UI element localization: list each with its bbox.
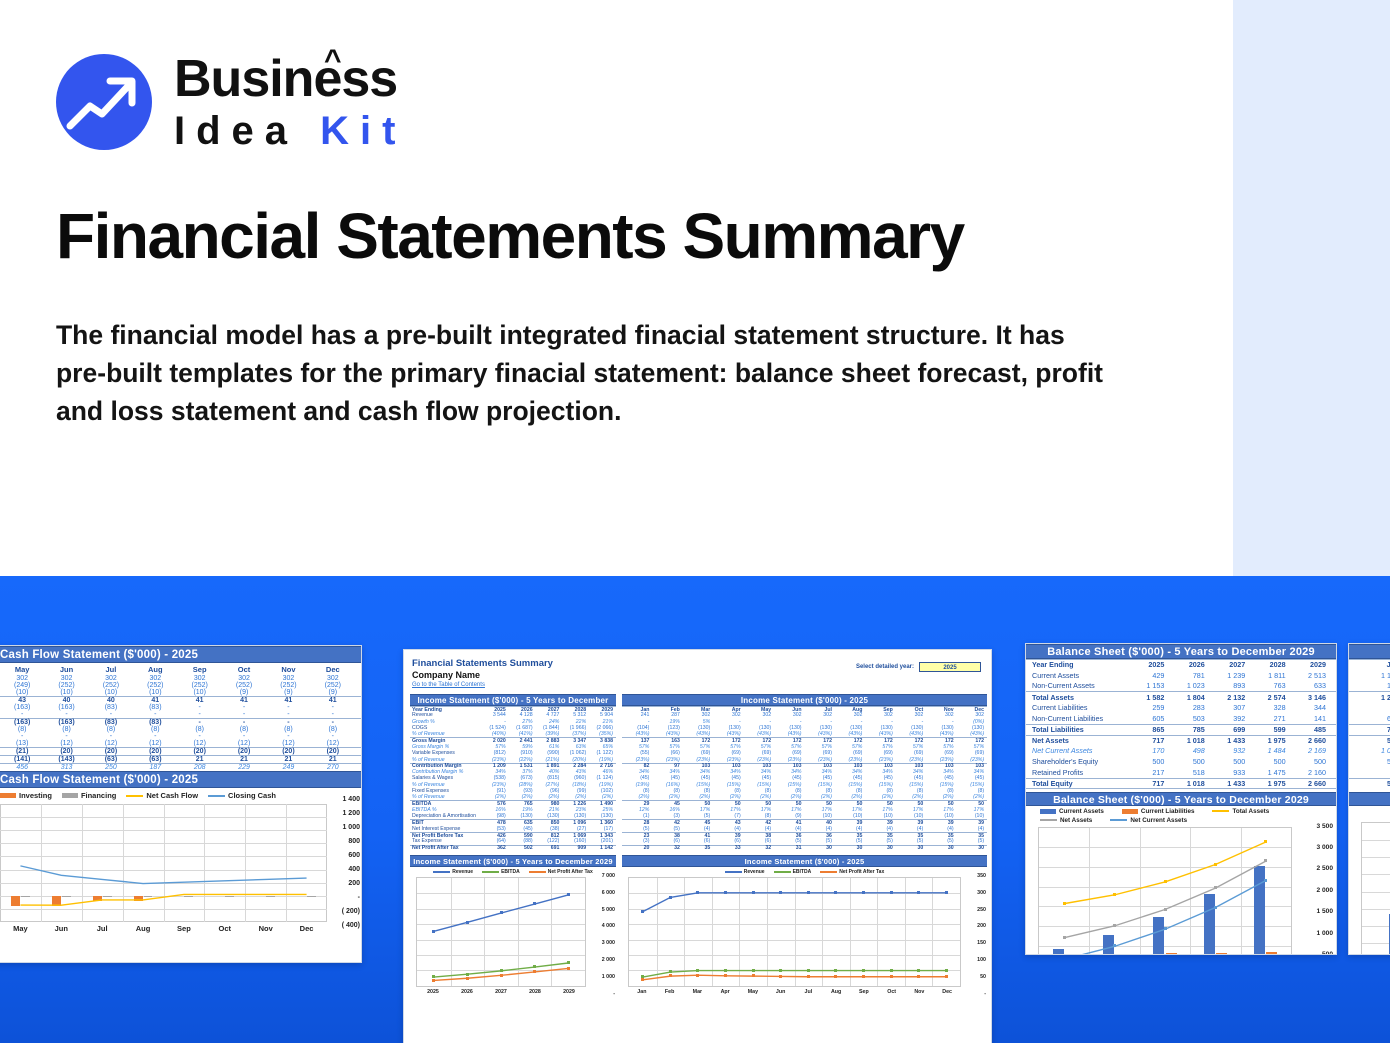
y-tick: 3 000 [1316,844,1333,851]
table-row: % of Revenue(23%)(22%)(21%)(20%)(19%) [410,756,616,762]
table-cell: 2027 [1209,660,1249,669]
table-cell: (252) [89,682,133,689]
table-cell: (5) [896,838,926,844]
x-tick: Aug [822,989,850,995]
table-row: (163)(163)(83)(83)---- [0,718,361,726]
table-cell: (2%) [589,794,616,800]
balance-sheet-chart-legend: Current AssetsCurrent LiabilitiesTotal A… [1026,806,1336,827]
row-label: Gross Margin % [410,744,482,750]
table-cell: 17% [957,807,987,813]
table-cell: (163) [0,719,44,726]
table-cell: - [835,719,865,725]
row-label: Tax Expense [410,838,482,844]
table-cell: 46% [589,769,616,775]
table-cell: (5) [835,838,865,844]
table-cell: 40 [44,697,88,704]
table-cell: 1 239 [1209,671,1249,680]
table-cell: (12) [311,740,355,747]
x-tick: Dec [933,989,961,995]
table-cell: 21 [266,756,310,763]
table-row: EBITDA %16%19%21%23%25% [410,807,616,813]
table-cell: 229 [222,764,266,771]
table-cell: 362 [482,845,509,851]
table-cell: 217 [1128,768,1168,777]
table-cell: 34% [744,769,774,775]
table-cell: (8) [926,788,956,794]
table-cell: 30 [865,845,895,851]
table-cell: (5) [622,826,652,832]
table-row: Net Current Assets1704989321 4842 169 [1026,745,1336,756]
table-row: Tax Expense(64)(88)(122)(160)(201) [410,838,616,844]
legend-swatch [1122,809,1138,814]
row-label: Fixed Expenses [410,788,482,794]
legend-swatch [126,795,143,797]
table-cell: (45) [957,775,987,781]
table-cell: 270 [311,764,355,771]
chart-bar [1115,954,1126,955]
table-cell: 57% [926,744,956,750]
table-cell: (45) [835,775,865,781]
table-cell: (21%) [536,757,563,763]
table-cell: (23%) [683,757,713,763]
table-cell: 933 [1209,768,1249,777]
y-tick: 2 000 [1316,887,1333,894]
table-cell: (812) [482,750,509,756]
table-cell: (163) [44,719,88,726]
table-cell: (815) [536,775,563,781]
grid-line [1362,926,1390,927]
data-point [696,974,699,977]
table-cell: (22%) [509,757,536,763]
table-cell: 208 [178,764,222,771]
table-cell: (15%) [774,782,804,788]
table-cell: 500 [1355,757,1390,766]
table-cell: - [865,719,895,725]
table-cell: (249) [0,682,44,689]
row-label: Retained Profits [1032,768,1128,777]
row-label: EBITDA % [410,807,482,813]
table-row: JanFebMarAprMayJunJulAugSepOctNovDec [622,706,987,712]
table-cell: (23%) [926,757,956,763]
table-cell: 57% [683,744,713,750]
table-cell: (15%) [805,782,835,788]
table-row: 137163172172172172172172172172172172 [622,737,987,743]
table-cell: 307 [1209,703,1249,712]
table-cell: (10) [896,813,926,819]
table-cell: 43 [0,697,44,704]
table-cell: 17% [865,807,895,813]
table-row: EBITDA5767659801 2261 490 [410,800,616,806]
table-cell: 1 018 [1168,736,1208,745]
table-cell: 17% [713,807,743,813]
x-tick: Oct [204,924,245,933]
table-row: (10)(10)(10)(10)(10)(9)(9)(9) [0,689,361,696]
cash-flow-table-title: Cash Flow Statement ($'000) - 2025 [0,646,361,663]
year-picker-input[interactable]: 2025 [919,662,981,672]
table-cell: (15%) [744,782,774,788]
legend-label: Total Assets [1232,808,1269,815]
table-cell: (8) [713,788,743,794]
table-cell: (43%) [683,731,713,737]
table-row: Fixed Expenses(91)(93)(96)(99)(102) [410,788,616,794]
table-cell: (12) [89,740,133,747]
table-cell: 500 [1249,757,1289,766]
y-tick: 150 [977,940,986,946]
row-label: % of Revenue [410,782,482,788]
table-cell: (23%) [835,757,865,763]
x-tick: 2025 [416,989,450,995]
table-cell: 2 513 [1290,671,1330,680]
table-of-contents-link[interactable]: Go to the Table of Contents [404,680,991,688]
financial-summary-screenshot[interactable]: Financial Statements Summary Company Nam… [403,649,992,1043]
table-cell: 34% [865,769,895,775]
table-cell: (20) [222,748,266,755]
table-cell: 41 [178,697,222,704]
table-cell: - [89,711,133,718]
table-cell: - [178,704,222,711]
table-cell: - [89,733,133,740]
table-row: (43%)(43%)(43%)(43%)(43%)(43%)(43%)(43%)… [622,731,987,737]
table-cell: - [133,733,177,740]
table-cell: 30 [926,845,956,851]
column-header: Jan [1355,660,1390,669]
row-label: COGS [410,725,482,731]
y-tick: 600 [348,852,360,859]
column-header: Oct [222,665,266,674]
table-cell: 19% [509,807,536,813]
table-cell: (43%) [744,731,774,737]
income-statement-tables: Income Statement ($'000) - 5 Years to De… [404,688,991,851]
table-row: 233841393836363535353535 [622,832,987,838]
table-cell: (10) [133,689,177,696]
table-cell: 302 [44,675,88,682]
table-cell: (45) [774,775,804,781]
table-row: 4340404141414141 [0,696,361,704]
table-row: 124 [1349,681,1390,692]
row-label: % of Revenue [410,757,482,763]
table-cell: 633 [1290,681,1330,690]
legend-label: EBITDA [793,869,812,875]
table-cell: (122) [536,838,563,844]
table-cell: (23%) [713,757,743,763]
table-cell: (83) [89,719,133,726]
data-point [752,974,755,977]
cash-flow-chart-legend: InvestingFinancingNet Cash FlowClosing C… [0,788,361,802]
row-label: Shareholder's Equity [1032,757,1128,766]
data-point [834,975,837,978]
table-row: % of Revenue(2%)(2%)(2%)(2%)(2%) [410,794,616,800]
x-tick: 2029 [552,989,586,995]
table-cell: 2029 [1290,660,1330,669]
table-cell: (69) [805,750,835,756]
table-cell: - [44,733,88,740]
table-cell: (3) [652,813,682,819]
table-cell: (39%) [536,731,563,737]
table-cell: (23%) [482,757,509,763]
column-header: Aug [133,665,177,674]
data-point [669,974,672,977]
legend-item: Net Profit After Tax [529,869,593,875]
table-cell: 34% [622,769,652,775]
monthly-balance-screenshot[interactable]: Jan1 1741241 297936927865121 08150012512… [1348,643,1390,955]
table-row: (45)(45)(45)(45)(45)(45)(45)(45)(45)(45)… [622,775,987,781]
x-tick: Sep [850,989,878,995]
table-cell: (15%) [865,782,895,788]
table-cell: - [222,733,266,740]
table-row: 93 [1349,702,1390,713]
balance-sheet-chart-title: Balance Sheet ($'000) - 5 Years to Decem… [1026,792,1336,806]
table-row: Non-Current Assets1 1531 023893763633 [1026,681,1336,692]
table-cell: (15%) [957,782,987,788]
table-cell: 30 [835,845,865,851]
trending-up-arrow-icon [56,54,152,150]
table-cell: (201) [589,838,616,844]
table-row: 12%16%17%17%17%17%17%17%17%17%17%17% [622,807,987,813]
table-cell: (252) [44,682,88,689]
table-cell: - [178,719,222,726]
page-title: Financial Statements Summary [56,199,964,273]
table-cell: 35 [683,845,713,851]
table-cell: - [805,719,835,725]
table-cell: (20) [178,748,222,755]
table-cell: (5) [774,838,804,844]
table-cell: 1 433 [1209,779,1249,788]
table-cell: 63% [562,744,589,750]
table-cell: (8) [835,788,865,794]
y-tick: - [358,894,360,901]
legend-label: Net Profit After Tax [548,869,593,875]
table-cell: (8) [266,726,310,733]
cash-flow-chart-plot: 1 4001 2001 000800600400200-( 200)( 400) [0,804,327,922]
table-row: 294550505050505050505050 [622,800,987,806]
row-label: % of Revenue [410,731,482,737]
table-cell: (43%) [774,731,804,737]
legend-swatch [774,871,791,873]
table-cell: 699 [1209,725,1249,734]
table-row: 1 081 [1349,745,1390,756]
table-cell: 21 [222,756,266,763]
y-tick: 800 [348,838,360,845]
screenshot-showcase-band: Cash Flow Statement ($'000) - 2025 MayJu… [0,576,1390,1043]
table-row: Contribution Margin %34%37%40%43%46% [410,769,616,775]
table-row: (13)(12)(12)(12)(12)(12)(12)(12) [0,740,361,747]
table-cell: (2%) [713,794,743,800]
table-cell: - [178,711,222,718]
table-cell: - [622,719,652,725]
y-tick: 1 200 [342,810,360,817]
x-tick: May [0,924,41,933]
table-cell: (130) [589,813,616,819]
data-point [1113,944,1116,947]
table-cell: (6) [713,838,743,844]
table-cell: 1 174 [1355,671,1390,680]
legend-item: Current Liabilities [1122,808,1195,815]
table-row: COGS(1 524)(1 687)(1 844)(1 966)(2 066) [410,725,616,731]
table-cell: 30 [896,845,926,851]
table-cell: 503 [1168,714,1208,723]
y-tick: 500 [1322,951,1333,955]
table-cell: (2%) [744,794,774,800]
year-picker[interactable]: Select detailed year: 2025 [856,662,981,672]
table-cell: (69) [926,750,956,756]
data-point [1164,927,1167,930]
data-point [862,975,865,978]
table-cell: (23%) [865,757,895,763]
y-tick: ( 200) [342,908,360,915]
row-label: Salaries & Wages [410,775,482,781]
table-cell: 1 018 [1168,779,1208,788]
x-tick: 2028 [518,989,552,995]
table-cell: - [311,733,355,740]
table-cell: (43%) [926,731,956,737]
table-cell: 302 [835,712,865,718]
table-cell: 34% [957,769,987,775]
table-cell: 392 [1209,714,1249,723]
table-cell: (4) [926,826,956,832]
monthly-income-title: Income Statement ($'000) - 2025 [622,694,987,706]
cash-flow-table-body: 302302302302302302302302(249)(252)(252)(… [0,675,361,771]
table-cell: 599 [1249,725,1289,734]
table-cell: - [44,711,88,718]
table-cell: (69) [865,750,895,756]
table-cell: (45) [622,775,652,781]
table-cell: - [311,719,355,726]
table-cell: (5) [805,838,835,844]
table-cell: (130) [562,813,589,819]
grid-line [1362,874,1390,875]
x-tick: Dec [286,924,327,933]
data-point [779,975,782,978]
table-cell: (43%) [835,731,865,737]
table-cell: (8) [805,788,835,794]
monthly-balance-table-body: Jan1 1741241 297936927865121 08150012512 [1349,659,1390,789]
y-tick: 1 500 [1316,908,1333,915]
table-cell: (1 124) [589,775,616,781]
monthly-income-chart: Income Statement ($'000) - 2025 RevenueE… [622,855,987,995]
y-tick: 1 000 [342,824,360,831]
y-tick: 1 000 [1316,930,1333,937]
table-row: (55)(66)(69)(69)(69)(69)(69)(69)(69)(69)… [622,750,987,756]
table-cell: (20) [311,748,355,755]
column-header: May [0,665,44,674]
table-cell: (252) [133,682,177,689]
balance-sheet-table-title: Balance Sheet ($'000) - 5 Years to Decem… [1026,644,1336,659]
table-cell: (1 844) [536,725,563,731]
table-cell: 692 [1355,714,1390,723]
cash-flow-x-axis-labels: MayJunJulAugSepOctNovDec [0,924,327,933]
table-cell: 57% [482,744,509,750]
table-row: 34%34%34%34%34%34%34%34%34%34%34%34% [622,769,987,775]
table-cell: - [178,733,222,740]
table-cell: (10) [178,689,222,696]
table-cell: 17% [774,807,804,813]
table-cell: (45) [744,775,774,781]
table-cell: (4) [835,826,865,832]
legend-swatch [482,871,499,873]
table-cell: (960) [562,775,589,781]
table-cell: (23%) [652,757,682,763]
table-cell: 16% [482,807,509,813]
row-label: Net Profit After Tax [410,845,482,851]
table-cell: (96) [536,788,563,794]
table-cell: (8) [744,788,774,794]
table-cell: 512 [1355,736,1390,745]
table-row: % of Revenue(40%)(41%)(39%)(37%)(35%) [410,731,616,737]
table-cell: 17% [683,807,713,813]
x-tick: Jan [628,989,656,995]
table-cell: 41 [133,697,177,704]
table-cell: (2%) [683,794,713,800]
data-point [917,975,920,978]
table-cell: 2 660 [1290,736,1330,745]
brand-name-bottom-dark: Idea [174,109,320,153]
table-cell: (5) [926,838,956,844]
table-row: (8)(8)(8)(8)(8)(8)(8)(8) [0,726,361,733]
table-cell: 1 081 [1355,746,1390,755]
table-row: Gross Margin2 0202 4412 8833 3473 838 [410,737,616,743]
table-row: Depreciation & Amortisation(98)(130)(130… [410,813,616,819]
monthly-balance-chart-title [1349,792,1390,806]
y-tick: 400 [348,866,360,873]
table-cell: 302 [311,675,355,682]
table-cell: 302 [774,712,804,718]
data-point [945,975,948,978]
table-cell: 19% [652,719,682,725]
cash-flow-screenshot[interactable]: Cash Flow Statement ($'000) - 2025 MayJu… [0,645,362,963]
table-cell: (66) [652,750,682,756]
table-cell: (23%) [622,757,652,763]
table-cell: (23%) [896,757,926,763]
legend-row: Current AssetsCurrent LiabilitiesTotal A… [1040,808,1322,815]
table-cell: 302 [222,675,266,682]
table-cell: (41%) [509,731,536,737]
row-label: Contribution Margin % [410,769,482,775]
legend-item: Net Profit After Tax [820,869,884,875]
table-cell: 2 660 [1290,779,1330,788]
table-row: Retained Profits2175189331 4752 160 [1026,767,1336,778]
table-cell: 187 [133,764,177,771]
table-row: 8297103103103103103103103103103103 [622,763,987,769]
balance-sheet-chart-plot: 3 5003 0002 5002 0001 5001 000500- [1038,827,1292,955]
table-cell: (64) [482,838,509,844]
table-cell: (2%) [926,794,956,800]
table-row: 12 [1349,767,1390,778]
table-cell: (4) [774,826,804,832]
grid-line [1362,857,1390,858]
table-cell: (5) [957,838,987,844]
y-tick: 1 400 [342,796,360,803]
table-row: Total Equity7171 0181 4331 9752 660 [1026,778,1336,789]
balance-sheet-screenshot[interactable]: Balance Sheet ($'000) - 5 Years to Decem… [1025,643,1337,955]
table-cell: 141 [1290,714,1330,723]
table-cell: (99) [562,788,589,794]
row-label: % of Revenue [410,794,482,800]
table-cell: (4) [805,826,835,832]
table-cell: (27) [562,826,589,832]
table-cell: (5) [652,826,682,832]
y-tick: - [613,991,615,997]
table-row: 241287302302302302302302302302302302 [622,712,987,718]
table-cell: 500 [1168,757,1208,766]
table-cell: 34% [835,769,865,775]
table-cell: 32 [652,845,682,851]
y-tick: 50 [980,974,986,980]
brand-name-top-text: Business [174,50,397,108]
table-row: Growth %-27%24%22%21% [410,719,616,725]
legend-label: Revenue [744,869,765,875]
row-label: Net Current Assets [1032,746,1128,755]
table-cell: - [266,711,310,718]
